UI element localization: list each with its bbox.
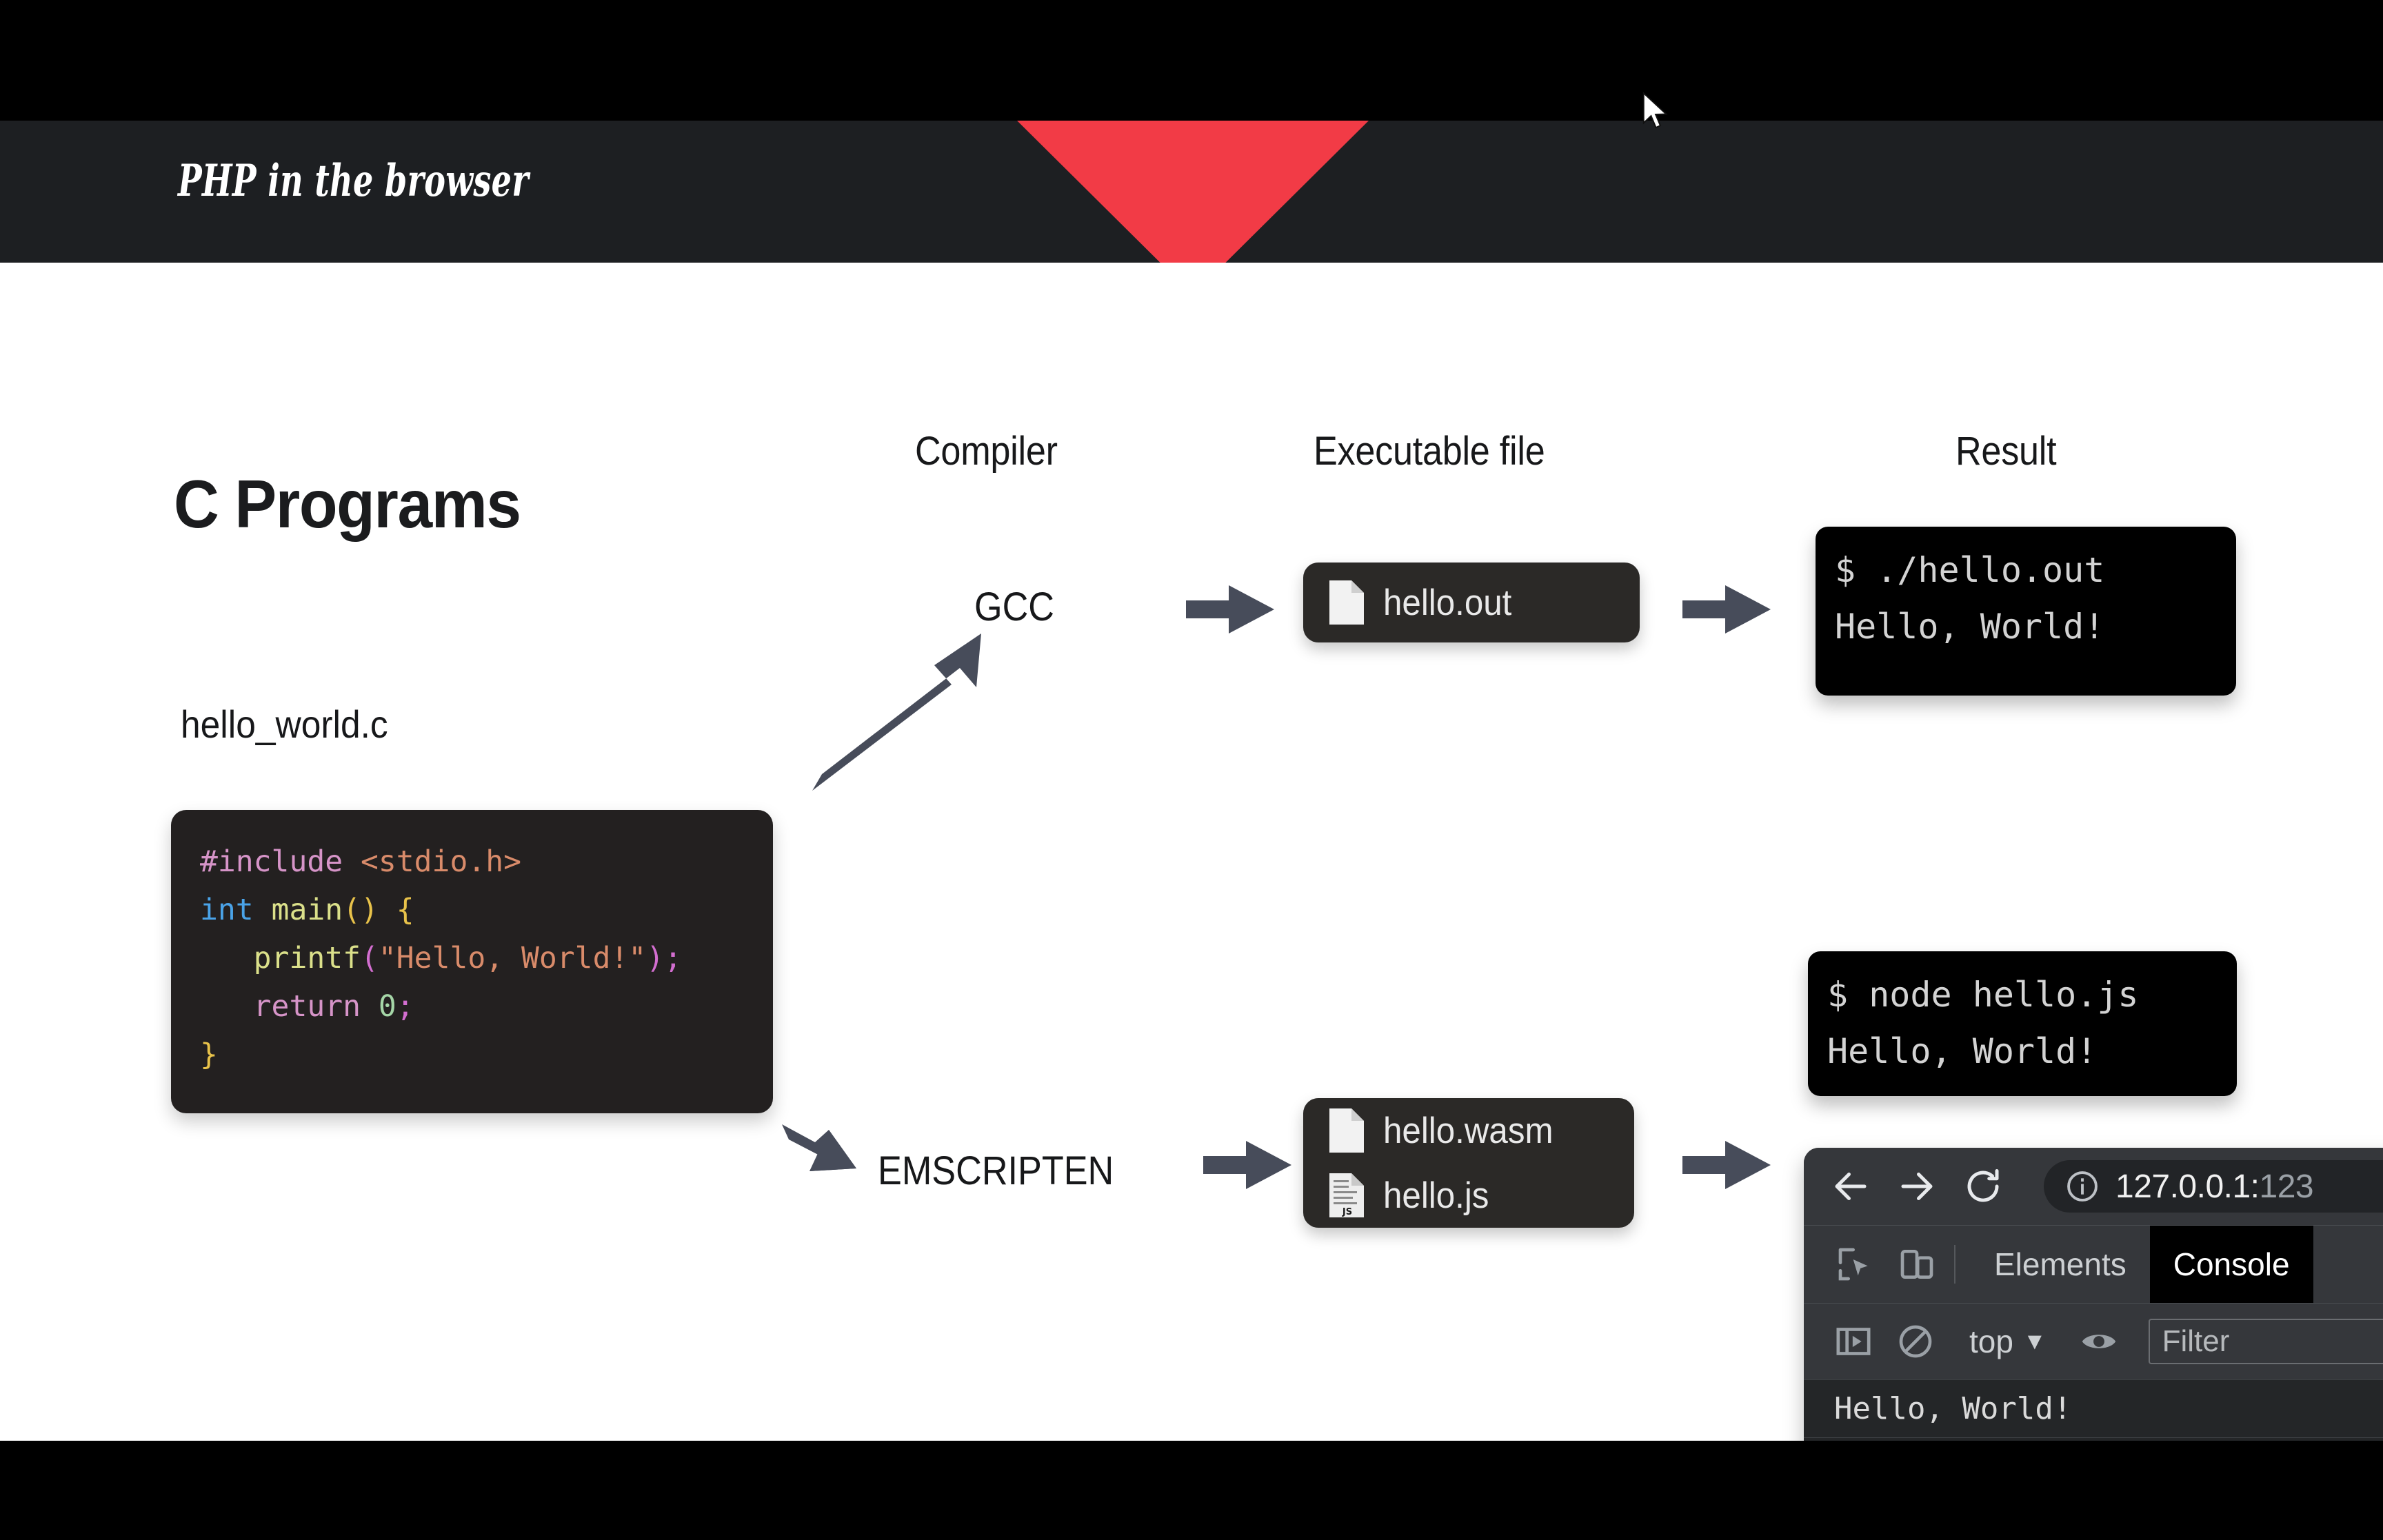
console-log-line: Hello, World! — [1834, 1391, 2383, 1426]
arrow-artifacts-to-browser — [1682, 1139, 1772, 1191]
artifact-chip-wasm[interactable]: hello.wasm JS hello.js — [1303, 1098, 1634, 1228]
tab-console[interactable]: Console — [2150, 1226, 2313, 1303]
address-bar-port: 123 — [2260, 1168, 2314, 1205]
terminal-node-output: $ node hello.js Hello, World! — [1808, 951, 2237, 1096]
forward-arrow-icon[interactable] — [1896, 1166, 1938, 1207]
deck-title: PHP in the browser — [178, 155, 529, 207]
file-blank-icon — [1328, 1107, 1365, 1154]
artifact-name: hello.out — [1383, 582, 1511, 624]
column-caption-result: Result — [1955, 428, 2056, 474]
reload-icon[interactable] — [1962, 1166, 2004, 1207]
presentation-slide: PHP in the browser Compiler Executable f… — [0, 121, 2383, 1441]
code-token-return: return — [254, 989, 361, 1024]
source-code-block: #include <stdio.h> int main() { printf("… — [171, 831, 773, 1079]
code-token-zero: 0 — [361, 989, 396, 1024]
terminal-native-output: $ ./hello.out Hello, World! — [1816, 527, 2236, 696]
clear-console-icon[interactable] — [1896, 1322, 1935, 1361]
code-indent-1 — [200, 941, 254, 975]
console-sidebar-icon[interactable] — [1834, 1322, 1873, 1361]
devtools-tabbar: Elements Console — [1804, 1225, 2383, 1303]
code-token-main-parens: () — [343, 893, 379, 927]
arrow-code-to-gcc — [786, 603, 1007, 810]
code-token-include-directive: #include — [200, 844, 343, 879]
device-toolbar-icon[interactable] — [1898, 1245, 1936, 1284]
code-token-header-name: <stdio.h> — [343, 844, 521, 879]
console-context-selector[interactable]: top ▼ — [1954, 1323, 2062, 1360]
browser-toolbar: 127.0.0.1:123 — [1804, 1148, 2383, 1225]
code-indent-2 — [200, 989, 254, 1024]
address-bar-url: 127.0.0.1:123 — [2115, 1168, 2313, 1206]
code-token-string-literal: "Hello, World!" — [379, 941, 646, 975]
file-js-icon: JS — [1328, 1172, 1365, 1219]
file-blank-icon — [1328, 579, 1365, 626]
slide-title: C Programs — [174, 465, 521, 543]
compiler-label-emscripten: EMSCRIPTEN — [878, 1148, 1114, 1194]
source-code-card: #include <stdio.h> int main() { printf("… — [171, 810, 773, 1113]
code-token-printf: printf — [254, 941, 361, 975]
code-token-printf-open: ( — [361, 941, 379, 975]
tab-elements[interactable]: Elements — [1971, 1226, 2150, 1303]
address-bar-host: 127.0.0.1: — [2115, 1168, 2260, 1205]
console-filter-placeholder: Filter — [2162, 1324, 2230, 1359]
info-circle-icon[interactable] — [2064, 1168, 2100, 1204]
code-token-open-brace: { — [379, 893, 414, 927]
code-token-close-brace: } — [200, 1037, 218, 1072]
live-expression-icon[interactable] — [2080, 1322, 2118, 1361]
terminal-line-command: $ node hello.js — [1827, 966, 2218, 1023]
artifact-row[interactable]: hello.out — [1328, 570, 1615, 635]
chevron-down-icon: ▼ — [2023, 1328, 2047, 1355]
console-context-label: top — [1969, 1323, 2013, 1360]
letterbox-bottom — [0, 1441, 2383, 1540]
console-log-area: Hello, World! — [1804, 1379, 2383, 1437]
compiler-label-gcc: GCC — [974, 584, 1054, 630]
letterbox-top — [0, 0, 2383, 121]
devtools-console-toolbar: top ▼ Filter — [1804, 1303, 2383, 1379]
arrow-output-to-terminal — [1682, 584, 1772, 635]
svg-text:JS: JS — [1342, 1207, 1352, 1217]
console-prompt-row[interactable]: › — [1804, 1437, 2383, 1441]
artifact-row[interactable]: hello.wasm — [1328, 1098, 1609, 1163]
artifact-chip-native[interactable]: hello.out — [1303, 563, 1640, 642]
code-token-semicolon-1: ; — [664, 941, 682, 975]
slide-header-band: PHP in the browser — [0, 121, 2383, 263]
address-bar[interactable]: 127.0.0.1:123 — [2044, 1160, 2383, 1213]
browser-window: 127.0.0.1:123 Elements Console — [1804, 1148, 2383, 1441]
artifact-name: hello.wasm — [1383, 1110, 1554, 1152]
back-arrow-icon[interactable] — [1830, 1166, 1871, 1207]
artifact-row[interactable]: JS hello.js — [1328, 1163, 1609, 1228]
terminal-line-output: Hello, World! — [1835, 598, 2217, 655]
code-token-int-type: int — [200, 893, 254, 927]
source-filename-label: hello_world.c — [181, 702, 388, 747]
code-token-semicolon-2: ; — [396, 989, 414, 1024]
arrow-gcc-to-output — [1186, 584, 1276, 635]
artifact-name: hello.js — [1383, 1175, 1489, 1217]
console-filter-input[interactable]: Filter — [2149, 1319, 2383, 1364]
column-caption-compiler: Compiler — [915, 428, 1058, 474]
column-caption-executable: Executable file — [1314, 428, 1545, 474]
arrow-emscripten-to-artifacts — [1203, 1139, 1293, 1191]
code-token-printf-close: ) — [646, 941, 664, 975]
terminal-line-output: Hello, World! — [1827, 1023, 2218, 1080]
red-triangle-decoration — [1017, 121, 1369, 263]
code-token-main-fn: main — [254, 893, 343, 927]
terminal-line-command: $ ./hello.out — [1835, 542, 2217, 598]
mouse-cursor-icon — [1640, 91, 1671, 134]
inspect-element-icon[interactable] — [1836, 1245, 1874, 1284]
